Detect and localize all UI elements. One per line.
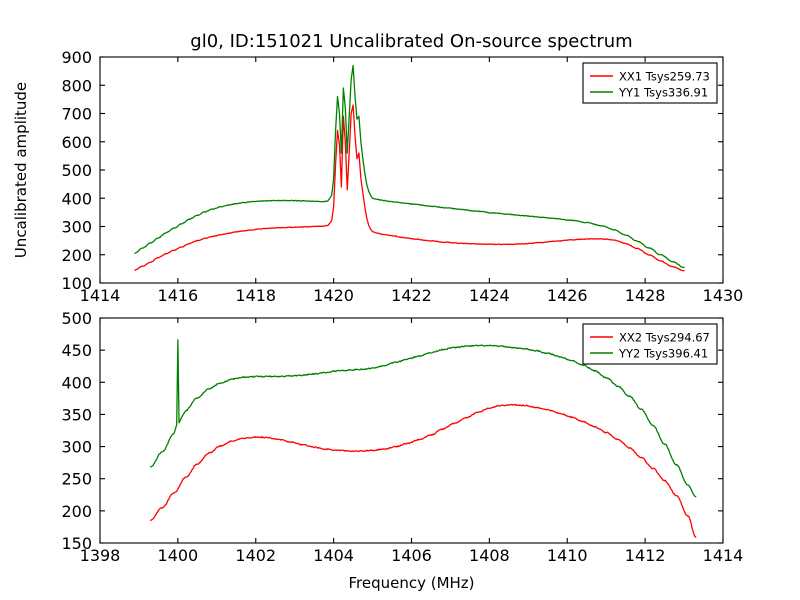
- x-tick-top-5: 1424: [469, 57, 510, 305]
- y-tick-label: 300: [61, 438, 92, 457]
- x-tick-bottom-2: 1402: [235, 318, 276, 565]
- x-tick-label: 1422: [391, 286, 432, 305]
- x-tick-label: 1406: [391, 546, 432, 565]
- y-tick-top-2: 300: [61, 218, 723, 237]
- spectrum-plot-canvas: 1414141614181420142214241426142814301002…: [0, 0, 800, 600]
- x-tick-label: 1408: [469, 546, 510, 565]
- x-tick-label: 1418: [235, 286, 276, 305]
- x-tick-label: 1424: [469, 286, 510, 305]
- y-tick-label: 800: [61, 76, 92, 95]
- y-tick-bottom-1: 200: [61, 502, 723, 521]
- y-tick-bottom-4: 350: [61, 405, 723, 424]
- x-tick-top-6: 1426: [547, 57, 588, 305]
- y-tick-label: 700: [61, 105, 92, 124]
- legend-label-yy1: YY1 Tsys336.91: [618, 86, 708, 100]
- y-tick-label: 250: [61, 470, 92, 489]
- legend-bottom: XX2 Tsys294.67YY2 Tsys396.41: [583, 324, 717, 364]
- x-tick-label: 1426: [547, 286, 588, 305]
- x-tick-label: 1410: [547, 546, 588, 565]
- x-tick-bottom-3: 1404: [313, 318, 354, 565]
- page-title: gl0, ID:151021 Uncalibrated On-source sp…: [190, 31, 632, 52]
- spectrum-figure: 1414141614181420142214241426142814301002…: [0, 0, 800, 600]
- x-tick-top-4: 1422: [391, 57, 432, 305]
- y-tick-top-6: 700: [61, 105, 723, 124]
- trace-xx1: [135, 105, 684, 271]
- y-tick-bottom-5: 400: [61, 373, 723, 392]
- x-tick-label: 1402: [235, 546, 276, 565]
- y-tick-label: 900: [61, 48, 92, 67]
- x-tick-label: 1420: [313, 286, 354, 305]
- x-tick-label: 1428: [625, 286, 666, 305]
- y-tick-label: 200: [61, 502, 92, 521]
- x-tick-label: 1404: [313, 546, 354, 565]
- y-tick-label: 100: [61, 274, 92, 293]
- y-tick-label: 300: [61, 218, 92, 237]
- y-tick-top-4: 500: [61, 161, 723, 180]
- y-tick-label: 500: [61, 309, 92, 328]
- x-tick-label: 1414: [703, 546, 744, 565]
- y-tick-label: 150: [61, 534, 92, 553]
- x-axis-label: Frequency (MHz): [348, 574, 474, 592]
- y-tick-top-1: 200: [61, 246, 723, 265]
- y-tick-top-3: 400: [61, 189, 723, 208]
- y-tick-label: 350: [61, 405, 92, 424]
- x-tick-label: 1400: [158, 546, 199, 565]
- x-tick-label: 1416: [158, 286, 199, 305]
- trace-xx2: [151, 404, 696, 537]
- y-tick-label: 450: [61, 341, 92, 360]
- x-tick-top-1: 1416: [158, 57, 199, 305]
- legend-label-yy2: YY2 Tsys396.41: [618, 347, 708, 361]
- y-tick-label: 400: [61, 373, 92, 392]
- x-tick-label: 1430: [703, 286, 744, 305]
- y-tick-top-5: 600: [61, 133, 723, 152]
- legend-label-xx1: XX1 Tsys259.73: [619, 70, 710, 84]
- y-tick-bottom-2: 250: [61, 470, 723, 489]
- legend-label-xx2: XX2 Tsys294.67: [619, 331, 710, 345]
- y-tick-label: 600: [61, 133, 92, 152]
- x-tick-label: 1412: [625, 546, 666, 565]
- y-tick-label: 500: [61, 161, 92, 180]
- x-tick-bottom-5: 1408: [469, 318, 510, 565]
- y-axis-label: Uncalibrated amplitude: [12, 82, 30, 258]
- legend-top: XX1 Tsys259.73YY1 Tsys336.91: [583, 63, 717, 103]
- x-tick-top-2: 1418: [235, 57, 276, 305]
- y-tick-label: 200: [61, 246, 92, 265]
- y-tick-label: 400: [61, 189, 92, 208]
